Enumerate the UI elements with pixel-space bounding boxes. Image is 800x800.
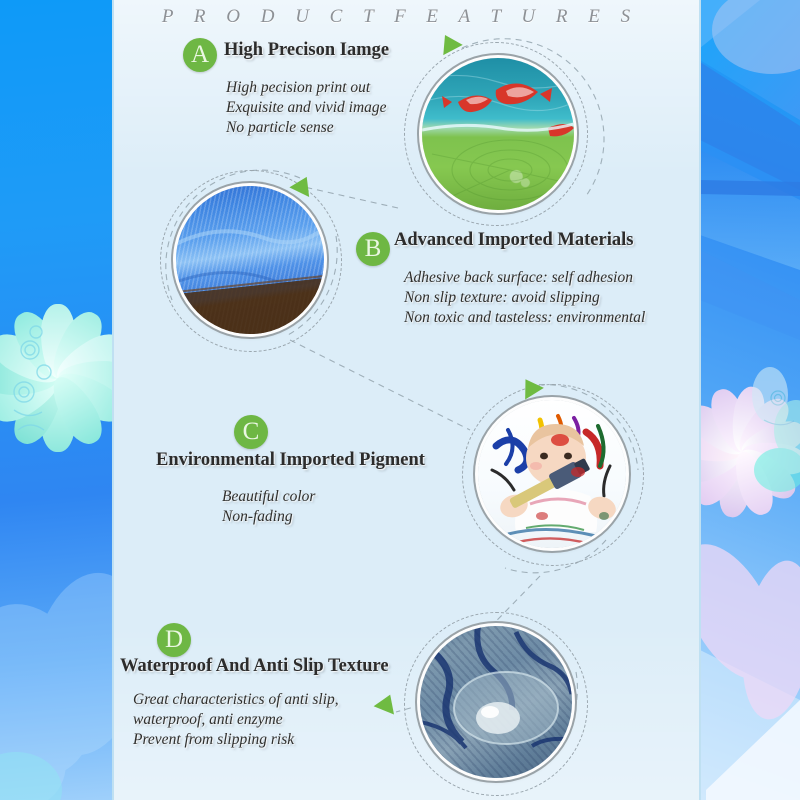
feature-line: High pecision print out [226,78,387,98]
feature-lines-b: Adhesive back surface: self adhesion Non… [404,268,645,328]
feature-heading-d: Waterproof And Anti Slip Texture [120,656,389,677]
baby-with-paintbrush-photo [478,400,626,548]
badge-letter-d: D [157,623,191,657]
feature-heading-c: Environmental Imported Pigment [156,450,425,471]
feature-line: Exquisite and vivid image [226,98,387,118]
feature-lines-c: Beautiful color Non-fading [222,487,315,527]
feature-line: Non toxic and tasteless: environmental [404,308,645,328]
photo-circle-a [422,58,574,210]
feature-heading-a: High Precison Iamge [224,40,389,61]
infographic-canvas: P R O D U C T F E A T U R E S A High Pre… [0,0,800,800]
koi-fish-on-pond-print-photo [422,58,574,210]
photo-circle-d [420,626,572,778]
feature-line: waterproof, anti enzyme [133,710,339,730]
badge-letter-c: C [234,415,268,449]
feature-lines-a: High pecision print out Exquisite and vi… [226,78,387,138]
feature-line: No particle sense [226,118,387,138]
badge-letter-a: A [183,38,217,72]
feature-line: Adhesive back surface: self adhesion [404,268,645,288]
feature-line: Great characteristics of anti slip, [133,690,339,710]
water-droplet-on-textured-surface-photo [420,626,572,778]
page-title: P R O D U C T F E A T U R E S [0,6,800,28]
badge-letter-b: B [356,232,390,266]
feature-line: Non slip texture: avoid slipping [404,288,645,308]
feature-line: Beautiful color [222,487,315,507]
blue-textured-fabric-photo [176,186,324,334]
feature-lines-d: Great characteristics of anti slip, wate… [133,690,339,750]
feature-line: Non-fading [222,507,315,527]
photo-circle-b [176,186,324,334]
feature-line: Prevent from slipping risk [133,730,339,750]
photo-circle-c [478,400,626,548]
feature-heading-b: Advanced Imported Materials [394,230,633,251]
